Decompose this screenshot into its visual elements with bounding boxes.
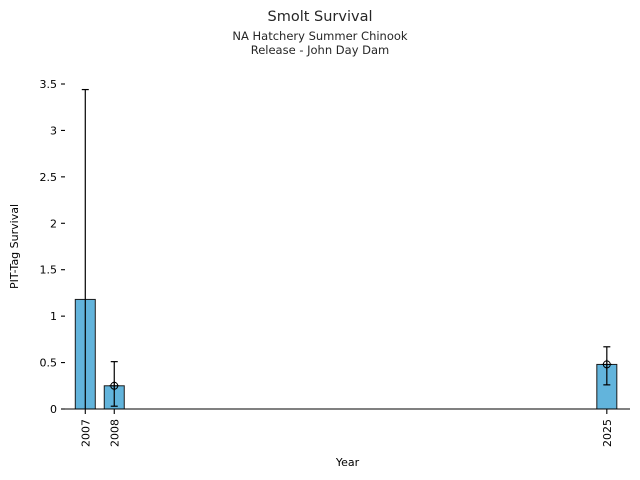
y-tick-label: 3.5 xyxy=(40,78,58,91)
y-axis-label: PIT-Tag Survival xyxy=(8,204,21,289)
y-tick-label: 1.5 xyxy=(40,264,58,277)
x-axis-label: Year xyxy=(335,456,360,469)
x-tick-label: 2025 xyxy=(601,419,614,447)
y-tick-label: 3 xyxy=(50,124,57,137)
chart-figure: Smolt Survival NA Hatchery Summer Chinoo… xyxy=(0,0,640,480)
y-tick-label: 2.5 xyxy=(40,171,58,184)
x-tick-label: 2008 xyxy=(108,419,121,447)
x-tick-label: 2007 xyxy=(79,419,92,447)
plot-area: 00.511.522.533.5 200720082025 PIT-Tag Su… xyxy=(0,0,640,480)
y-tick-label: 0 xyxy=(50,403,57,416)
x-axis-ticks: 200720082025 xyxy=(79,409,614,447)
error-bars xyxy=(82,90,612,409)
y-tick-label: 1 xyxy=(50,310,57,323)
y-tick-label: 2 xyxy=(50,217,57,230)
y-tick-label: 0.5 xyxy=(40,357,58,370)
bar-series xyxy=(75,299,617,409)
y-axis-ticks: 00.511.522.533.5 xyxy=(40,78,66,416)
